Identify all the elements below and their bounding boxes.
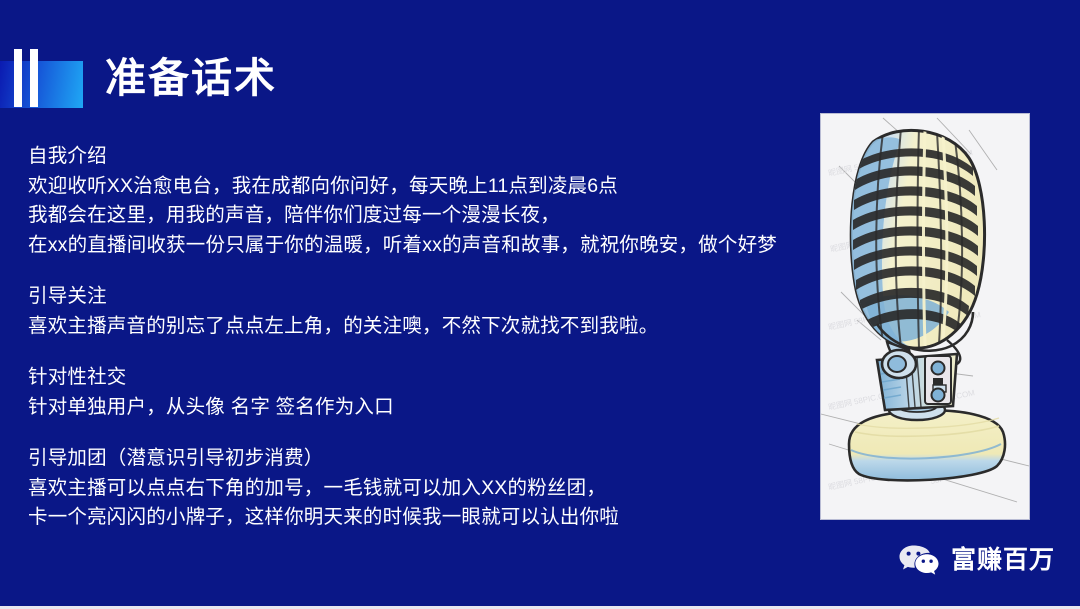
illustration-panel: 昵图网 58PIC.COM 58PIC.COM 昵图网 58PIC.COM 58… [820, 113, 1030, 520]
title-bar-icon-2 [30, 49, 38, 107]
copy-heading: 引导加团（潜意识引导初步消费） [28, 444, 818, 474]
footer-brand: 富赚百万 [898, 543, 1055, 577]
copy-block-targeted-social: 针对性社交 针对单独用户，从头像 名字 签名作为入口 [28, 363, 818, 422]
copy-line: 我都会在这里，用我的声音，陪伴你们度过每一个漫漫长夜， [28, 201, 818, 231]
copy-block-guide-follow: 引导关注 喜欢主播声音的别忘了点点左上角，的关注噢，不然下次就找不到我啦。 [28, 282, 818, 341]
footer-brand-text: 富赚百万 [951, 548, 1055, 573]
copy-line: 欢迎收听XX治愈电台，我在成都向你问好，每天晚上11点到凌晨6点 [28, 172, 818, 202]
retro-microphone-icon: 昵图网 58PIC.COM 58PIC.COM 昵图网 58PIC.COM 58… [821, 114, 1029, 519]
copy-heading: 引导关注 [28, 282, 818, 312]
copy-line: 喜欢主播声音的别忘了点点左上角，的关注噢，不然下次就找不到我啦。 [28, 312, 818, 342]
copy-line: 在xx的直播间收获一份只属于你的温暖，听着xx的声音和故事，就祝你晚安，做个好梦 [28, 231, 818, 261]
copy-line: 卡一个亮闪闪的小牌子，这样你明天来的时候我一眼就可以认出你啦 [28, 503, 818, 533]
page-title-text: 准备话术 [105, 58, 277, 99]
copy-block-self-intro: 自我介绍 欢迎收听XX治愈电台，我在成都向你问好，每天晚上11点到凌晨6点 我都… [28, 142, 818, 260]
copy-block-guide-join-group: 引导加团（潜意识引导初步消费） 喜欢主播可以点点右下角的加号，一毛钱就可以加入X… [28, 444, 818, 533]
title-bar-icon-1 [14, 49, 22, 107]
copy-heading: 针对性社交 [28, 363, 818, 393]
microphone-head [851, 128, 985, 378]
copy-line: 针对单独用户，从头像 名字 签名作为入口 [28, 393, 818, 423]
body-copy: 自我介绍 欢迎收听XX治愈电台，我在成都向你问好，每天晚上11点到凌晨6点 我都… [28, 142, 818, 533]
copy-heading: 自我介绍 [28, 142, 818, 172]
slide-root: 准备话术 自我介绍 欢迎收听XX治愈电台，我在成都向你问好，每天晚上11点到凌晨… [0, 0, 1080, 609]
microphone-base [849, 400, 1005, 480]
title-decoration-block [0, 61, 83, 108]
page-title: 准备话术 [0, 45, 277, 111]
copy-line: 喜欢主播可以点点右下角的加号，一毛钱就可以加入XX的粉丝团， [28, 474, 818, 504]
wechat-icon [898, 543, 940, 577]
